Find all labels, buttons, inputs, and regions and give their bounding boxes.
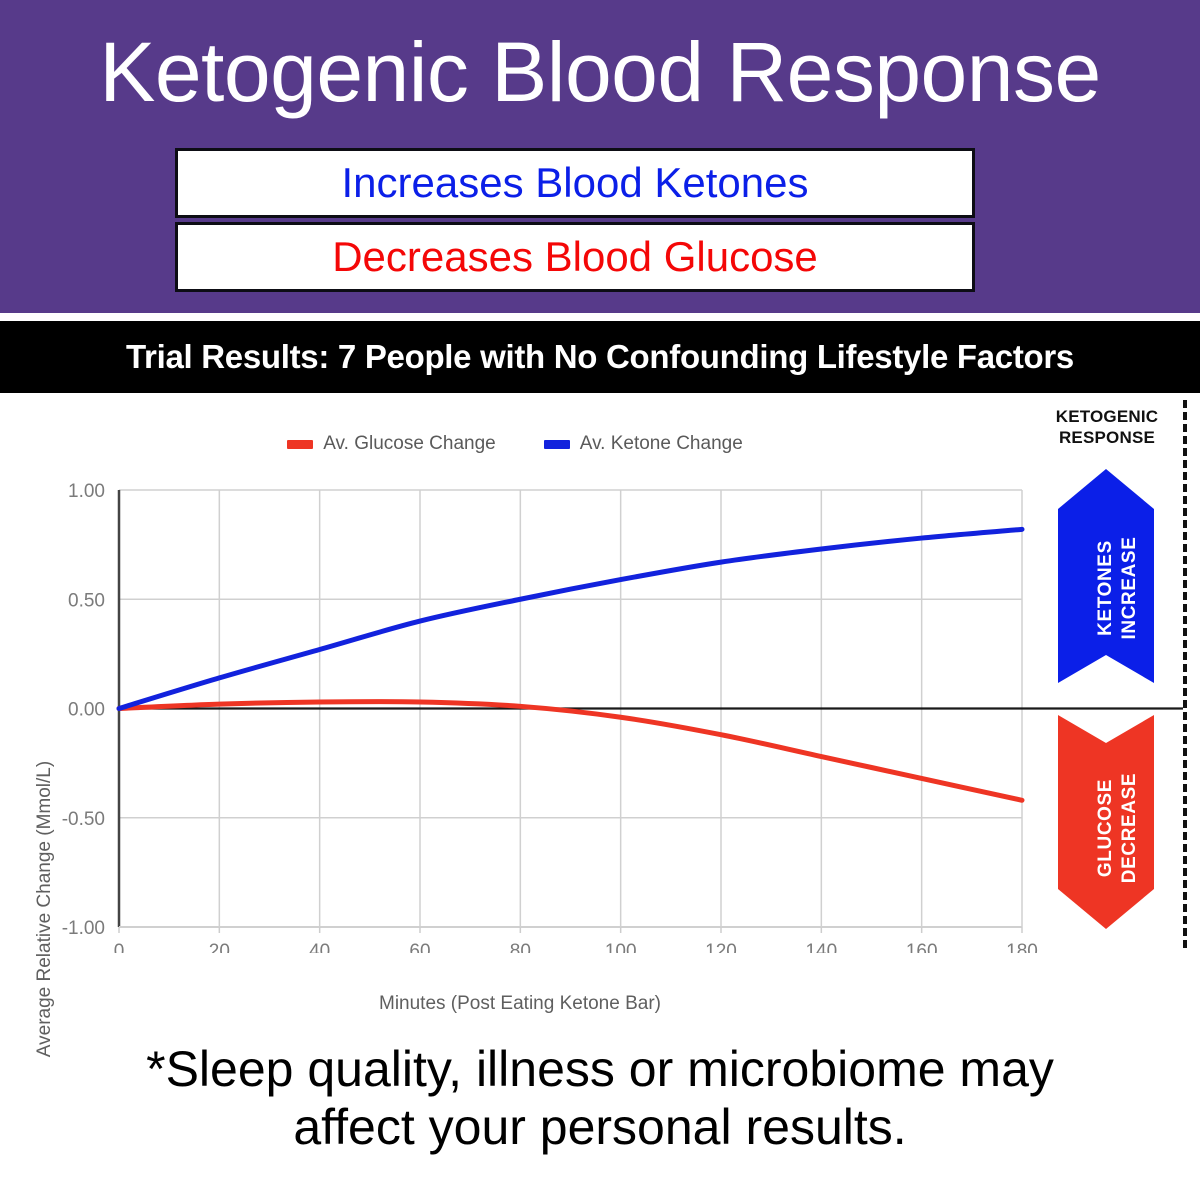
svg-text:0.00: 0.00: [68, 700, 105, 721]
svg-text:40: 40: [309, 941, 330, 953]
glucose-decrease-label-line2: DECREASE: [1119, 765, 1141, 891]
claim-text-ketones: Increases Blood Ketones: [342, 160, 809, 206]
chart-y-tick-labels: 1.000.500.00-0.50-1.00: [62, 481, 105, 939]
chart-plot: 1.000.500.00-0.50-1.00 02040608010012014…: [0, 393, 1200, 953]
chart-x-tick-labels: 020406080100120140160180: [114, 941, 1038, 953]
trial-results-banner: Trial Results: 7 People with No Confound…: [0, 321, 1200, 393]
ketogenic-response-panel: KETOGENIC RESPONSE KETONES INCREASE GLUC…: [1032, 393, 1200, 953]
chart-series: [119, 529, 1022, 800]
x-axis-title: Minutes (Post Eating Ketone Bar): [0, 993, 1040, 1015]
claim-box-glucose: Decreases Blood Glucose: [175, 222, 975, 292]
svg-text:100: 100: [605, 941, 637, 953]
svg-text:0.50: 0.50: [68, 590, 105, 611]
hero-banner: Ketogenic Blood Response Increases Blood…: [0, 0, 1200, 313]
footnote-line1: *Sleep quality, illness or microbiome ma…: [0, 1040, 1200, 1098]
ketones-increase-label-line2: INCREASE: [1119, 525, 1141, 651]
svg-text:-0.50: -0.50: [62, 809, 105, 830]
footnote: *Sleep quality, illness or microbiome ma…: [0, 1040, 1200, 1156]
svg-text:140: 140: [805, 941, 837, 953]
svg-text:60: 60: [409, 941, 430, 953]
svg-text:80: 80: [510, 941, 531, 953]
panel-dashed-divider: [1183, 400, 1187, 948]
ketones-increase-label-line1: KETONES: [1095, 525, 1117, 651]
claim-box-ketones: Increases Blood Ketones: [175, 148, 975, 218]
footnote-line2: affect your personal results.: [0, 1098, 1200, 1156]
chart-container: Av. Glucose Change Av. Ketone Change 1.0…: [0, 393, 1200, 1030]
page-title: Ketogenic Blood Response: [0, 24, 1200, 120]
claim-text-glucose: Decreases Blood Glucose: [332, 234, 818, 280]
glucose-decrease-label-line1: GLUCOSE: [1095, 765, 1117, 891]
svg-text:20: 20: [209, 941, 230, 953]
infographic-page: Ketogenic Blood Response Increases Blood…: [0, 0, 1200, 1200]
svg-text:160: 160: [906, 941, 938, 953]
svg-text:0: 0: [114, 941, 125, 953]
svg-text:120: 120: [705, 941, 737, 953]
svg-text:1.00: 1.00: [68, 481, 105, 502]
svg-text:-1.00: -1.00: [62, 918, 105, 939]
trial-results-banner-text: Trial Results: 7 People with No Confound…: [126, 338, 1074, 376]
